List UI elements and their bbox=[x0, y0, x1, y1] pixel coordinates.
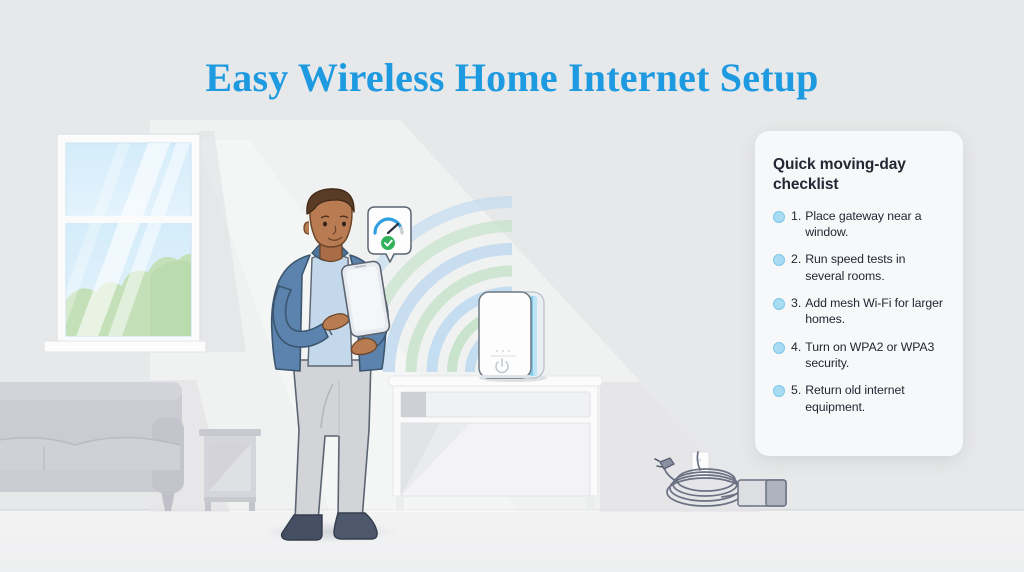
checkbox-circle-icon[interactable] bbox=[773, 385, 785, 397]
list-item-label: Add mesh Wi-Fi for larger homes. bbox=[805, 295, 945, 328]
list-item-label: Place gateway near a window. bbox=[805, 208, 945, 241]
list-item-label: Turn on WPA2 or WPA3 security. bbox=[805, 339, 945, 372]
list-item[interactable]: 5. Return old internet equipment. bbox=[773, 382, 945, 415]
checkbox-circle-icon[interactable] bbox=[773, 342, 785, 354]
list-item[interactable]: 4. Turn on WPA2 or WPA3 security. bbox=[773, 339, 945, 372]
list-item[interactable]: 2. Run speed tests in several rooms. bbox=[773, 251, 945, 284]
list-item-label: Run speed tests in several rooms. bbox=[805, 251, 945, 284]
list-item-number: 1. bbox=[791, 208, 801, 224]
power-adapter-brick bbox=[738, 480, 786, 506]
page-title: Easy Wireless Home Internet Setup bbox=[0, 54, 1024, 101]
panel-heading: Quick moving-day checklist bbox=[773, 155, 943, 195]
illustration-scene: Easy Wireless Home Internet Setup Quick … bbox=[0, 0, 1024, 572]
list-item-number: 3. bbox=[791, 295, 801, 311]
checkbox-circle-icon[interactable] bbox=[773, 254, 785, 266]
wall-outlet bbox=[692, 452, 709, 478]
quick-checklist-panel: Quick moving-day checklist 1. Place gate… bbox=[755, 131, 963, 456]
list-item-number: 2. bbox=[791, 251, 801, 267]
list-item-number: 5. bbox=[791, 382, 801, 398]
checkbox-circle-icon[interactable] bbox=[773, 298, 785, 310]
checkbox-circle-icon[interactable] bbox=[773, 211, 785, 223]
checklist: 1. Place gateway near a window. 2. Run s… bbox=[773, 208, 945, 415]
list-item[interactable]: 3. Add mesh Wi-Fi for larger homes. bbox=[773, 295, 945, 328]
list-item[interactable]: 1. Place gateway near a window. bbox=[773, 208, 945, 241]
list-item-number: 4. bbox=[791, 339, 801, 355]
list-item-label: Return old internet equipment. bbox=[805, 382, 945, 415]
